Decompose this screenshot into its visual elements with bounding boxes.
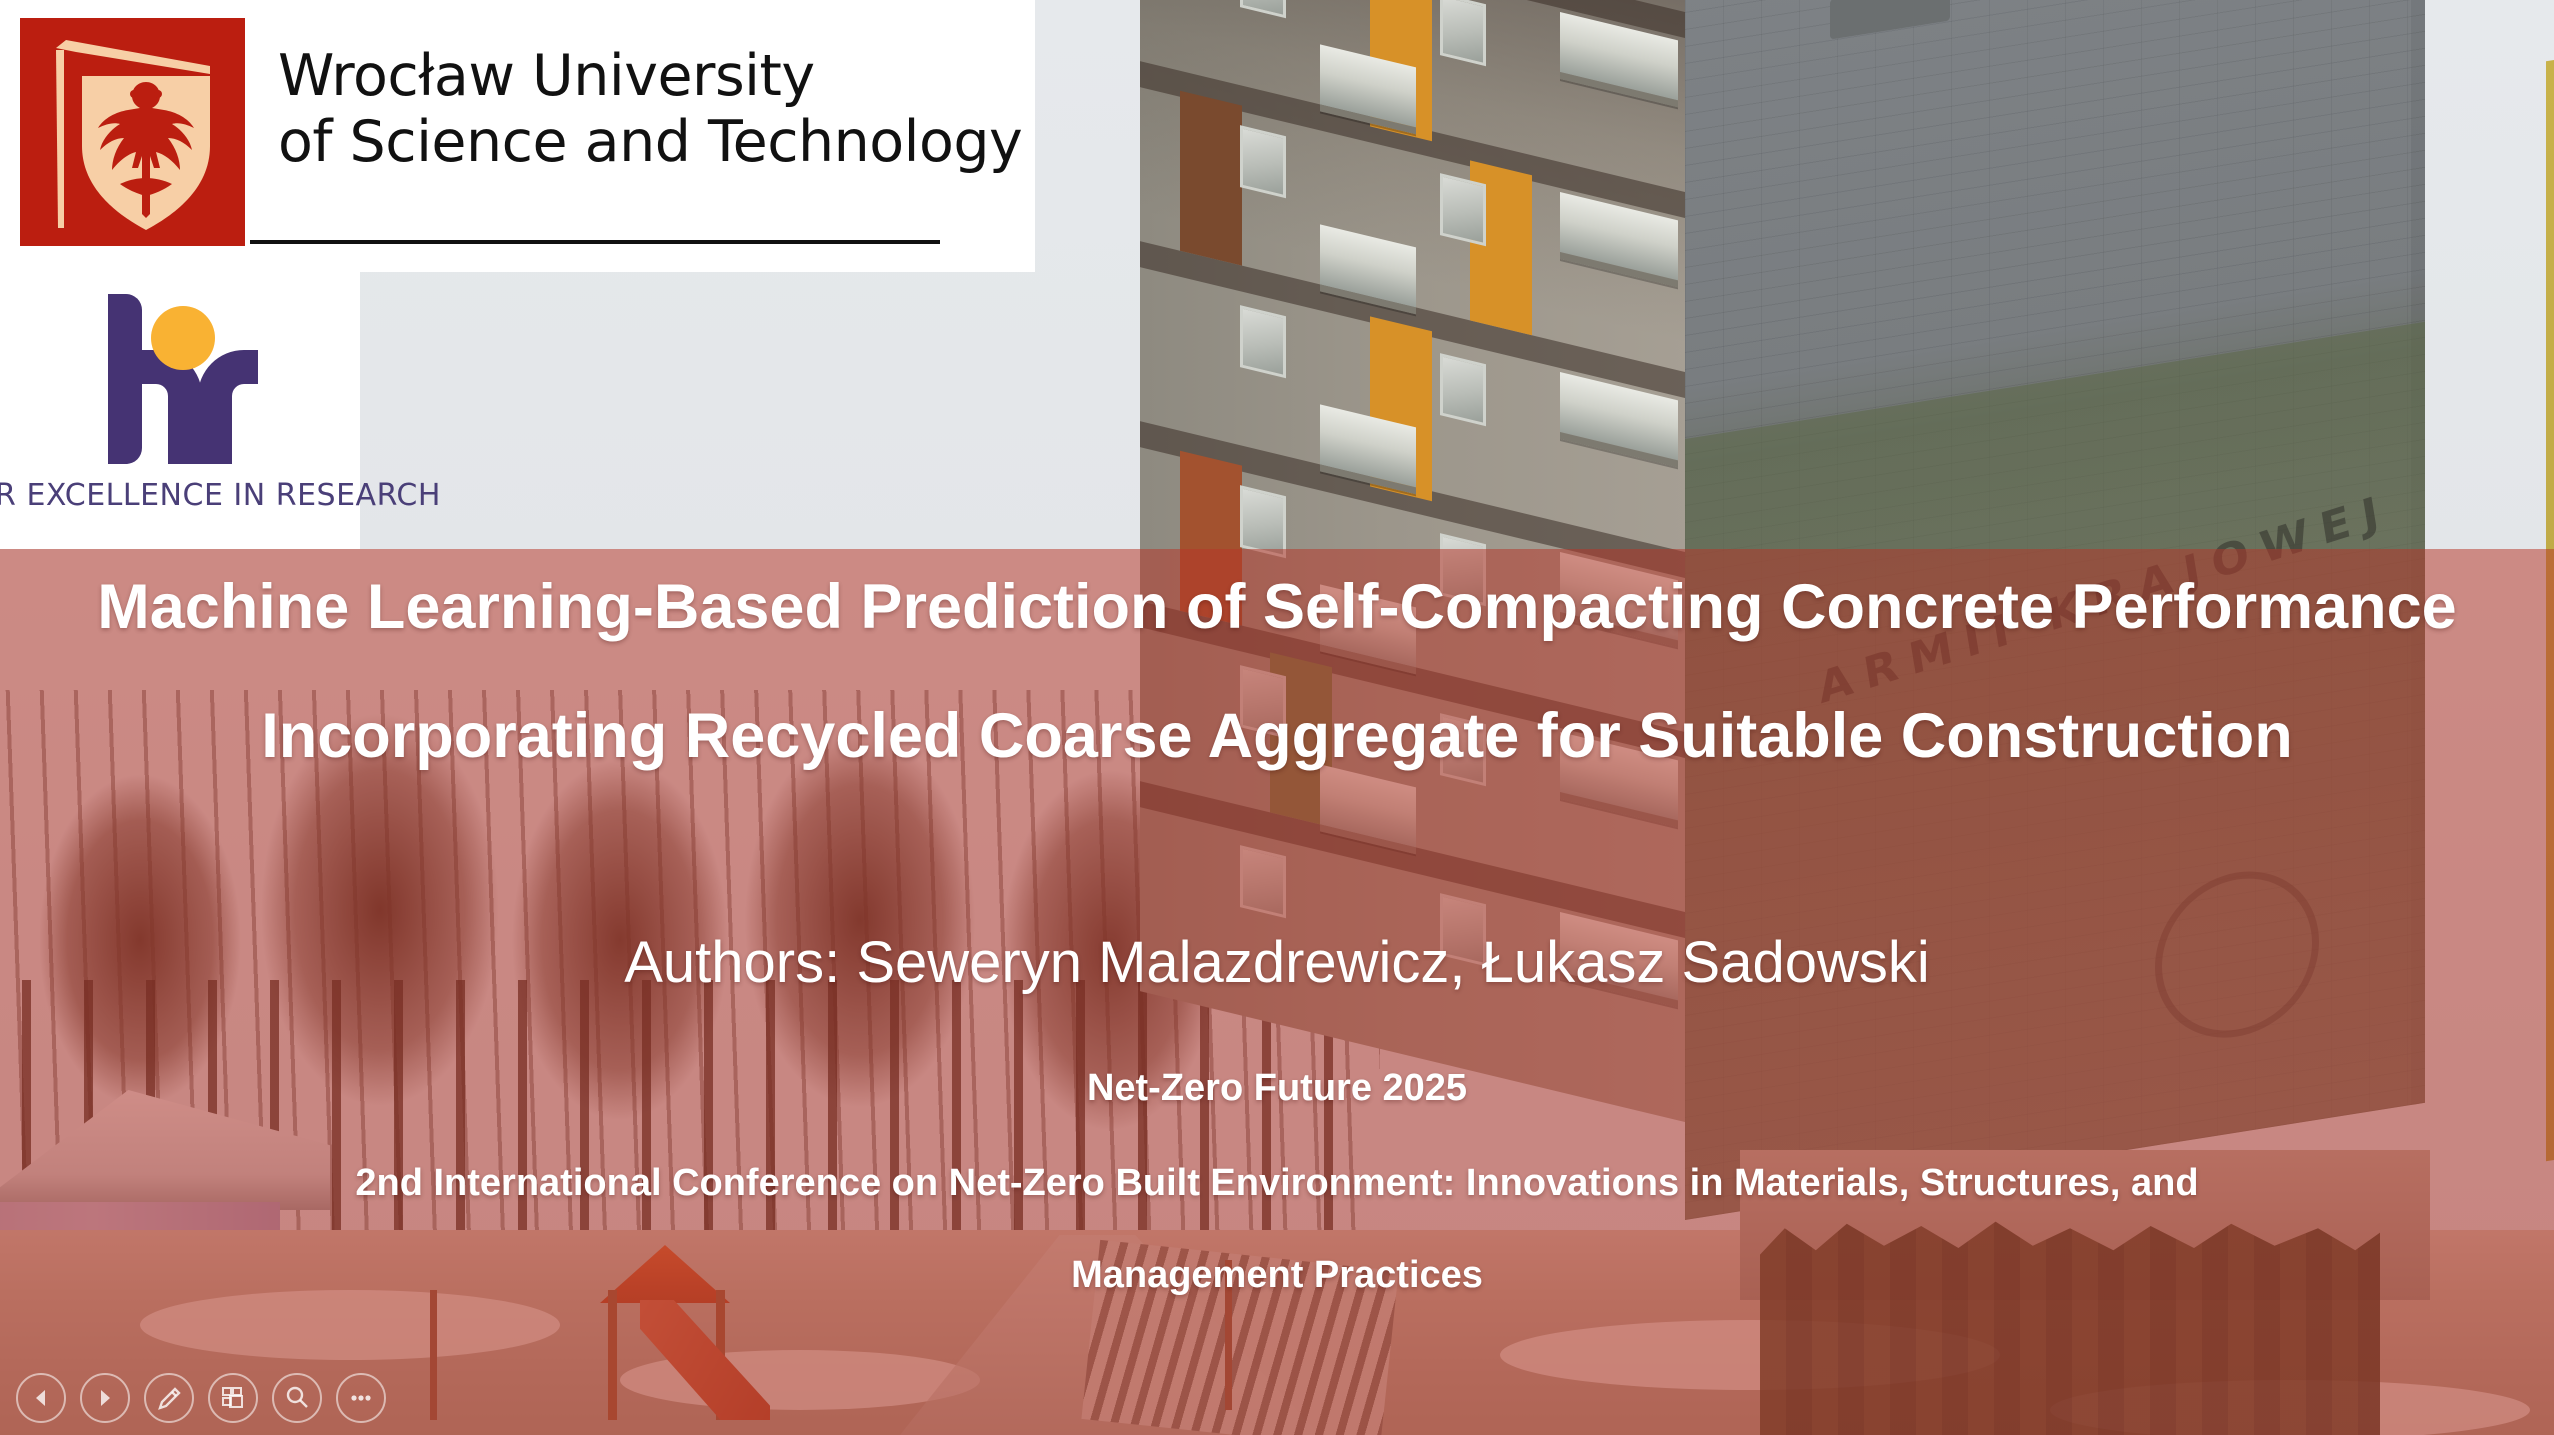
triangle-left-icon [30, 1387, 52, 1409]
university-logo-panel: Wrocław University of Science and Techno… [0, 0, 1035, 272]
title-line-1: Machine Learning-Based Prediction of Sel… [97, 572, 2456, 642]
grid-slides-icon [220, 1385, 246, 1411]
slideshow-toolbar [16, 1373, 386, 1423]
ellipsis-icon [348, 1385, 374, 1411]
slide-title: Machine Learning-Based Prediction of Sel… [0, 571, 2554, 773]
conference-name: Net-Zero Future 2025 [0, 1067, 2554, 1110]
title-line-2: Incorporating Recycled Coarse Aggregate … [26, 700, 2528, 774]
pen-tool-button[interactable] [144, 1373, 194, 1423]
hr-excellence-caption: HR EXCELLENCE IN RESEARCH [0, 478, 441, 513]
slide-grid-button[interactable] [208, 1373, 258, 1423]
eagle-crest-icon [20, 18, 245, 246]
presentation-slide: ARMII KRAJOWEJ [0, 0, 2554, 1435]
university-underline [250, 240, 940, 244]
university-name: Wrocław University of Science and Techno… [278, 44, 1022, 175]
zoom-button[interactable] [272, 1373, 322, 1423]
magnifier-icon [284, 1385, 310, 1411]
conference-subtitle-line-1: 2nd International Conference on Net-Zero… [0, 1162, 2554, 1205]
pen-icon [156, 1385, 182, 1411]
hr-excellence-logo-panel: HR EXCELLENCE IN RESEARCH [0, 272, 360, 549]
hr-person-icon [98, 290, 268, 465]
triangle-right-icon [94, 1387, 116, 1409]
previous-slide-button[interactable] [16, 1373, 66, 1423]
next-slide-button[interactable] [80, 1373, 130, 1423]
authors-line: Authors: Seweryn Malazdrewicz, Łukasz Sa… [0, 929, 2554, 996]
slide-text-content: Machine Learning-Based Prediction of Sel… [0, 549, 2554, 1435]
more-options-button[interactable] [336, 1373, 386, 1423]
conference-subtitle-line-2: Management Practices [0, 1254, 2554, 1297]
